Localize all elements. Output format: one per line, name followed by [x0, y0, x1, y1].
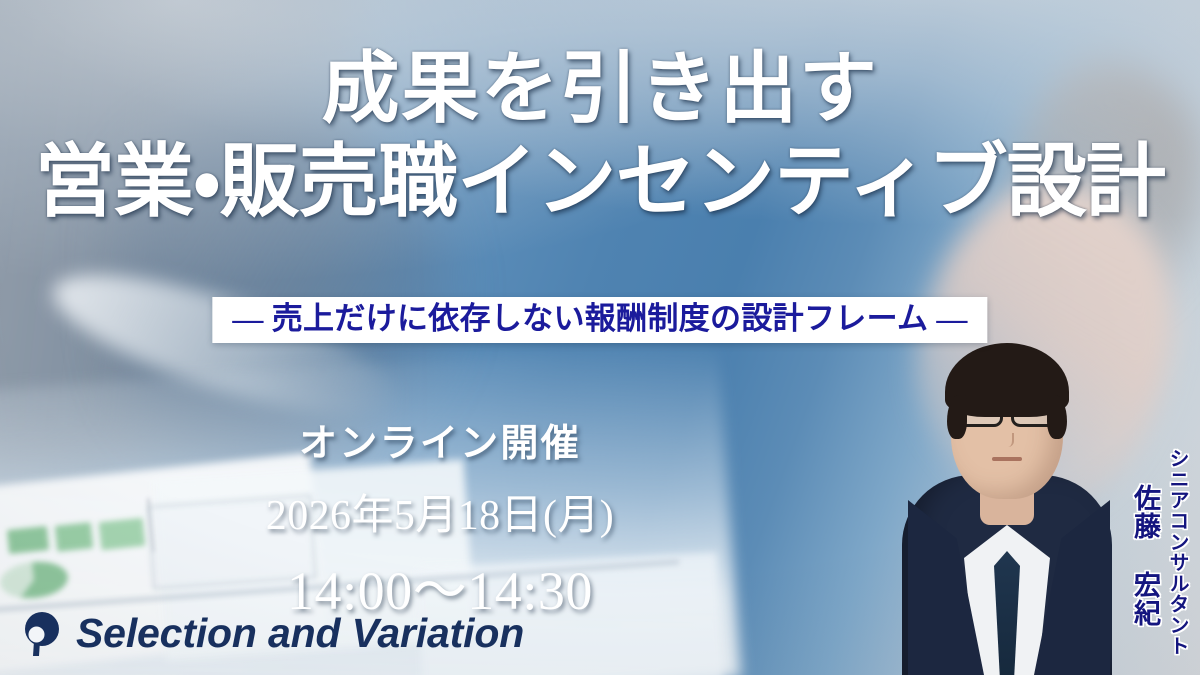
event-date: 2026年5月18日(月) [0, 481, 880, 542]
event-mode: オンライン開催 [0, 412, 880, 467]
speaker-hair [945, 343, 1069, 417]
event-details: オンライン開催 2026年5月18日(月) 14:00〜14:30 [0, 412, 880, 625]
company-name: Selection and Variation [76, 610, 524, 657]
title-line-1: 成果を引き出す [0, 48, 1200, 131]
subtitle-text: ― 売上だけに依存しない報酬制度の設計フレーム ― [232, 302, 967, 336]
speaker-nose [1000, 433, 1014, 447]
page-title: 成果を引き出す 営業・販売職インセンティブ設計 [0, 48, 1200, 225]
speaker-mouth [992, 457, 1022, 461]
speaker-photo [902, 350, 1112, 675]
speaker-role: シニアコンサルタント [1163, 448, 1192, 656]
company-logo[interactable]: Selection and Variation [22, 610, 524, 657]
speaker-name: 佐藤 宏紀 [1126, 484, 1165, 627]
webinar-banner: 成果を引き出す 営業・販売職インセンティブ設計 ― 売上だけに依存しない報酬制度… [0, 0, 1200, 675]
subtitle-band: ― 売上だけに依存しない報酬制度の設計フレーム ― [212, 297, 987, 343]
title-line-2: 営業・販売職インセンティブ設計 [0, 141, 1200, 226]
circle-q-logo-icon [22, 611, 62, 657]
speaker-caption: 佐藤 宏紀 シニアコンサルタント [1126, 448, 1192, 656]
